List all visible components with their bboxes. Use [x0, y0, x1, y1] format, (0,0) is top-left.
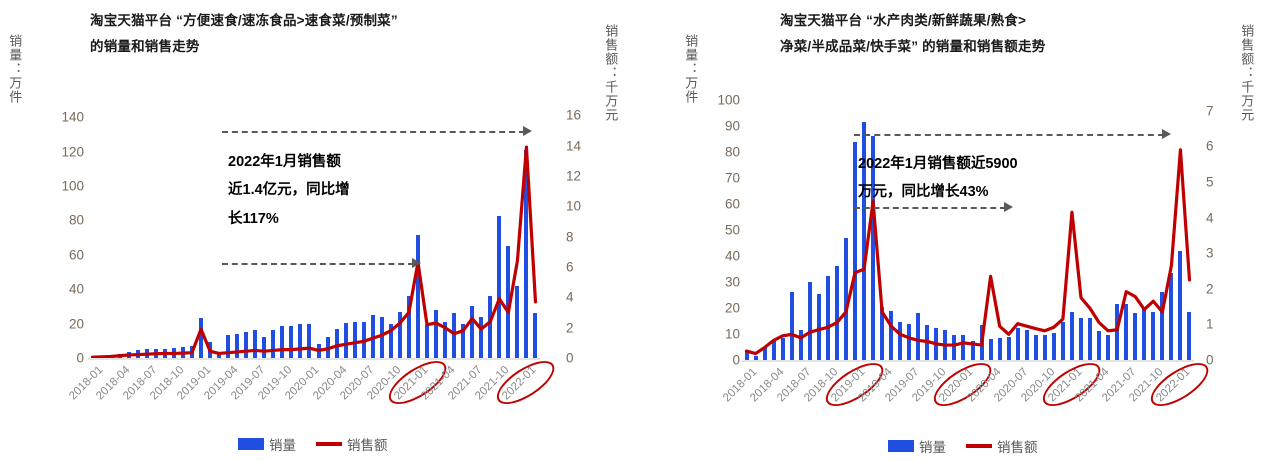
chart-title-left-line-1: 淘宝天猫平台 “方便速食/速冻食品>速食菜/预制菜”: [90, 8, 398, 34]
y-tick-right-0: 0: [1206, 353, 1214, 368]
y-tick-right-2: 2: [566, 320, 574, 335]
dual-chart-page: 淘宝天猫平台 “方便速食/速冻食品>速食菜/预制菜” 的销量和销售走势 销量：万…: [0, 0, 1277, 461]
y-tick-right-0: 0: [566, 351, 574, 366]
y-tick-left-20: 20: [69, 316, 84, 331]
annotation-right-line-2: 万元，同比增长43%: [858, 178, 1018, 206]
legend-left: 销量 销售额: [238, 434, 400, 454]
y-tick-right-7: 7: [1206, 103, 1214, 118]
annotation-right-line-1: 2022年1月销售额近5900: [858, 150, 1018, 178]
legend-item-sales-amount-right[interactable]: 销售额: [966, 436, 1038, 456]
y-tick-right-1: 1: [1206, 317, 1214, 332]
y-axis-right-ticks: 0246810121416: [566, 100, 606, 360]
y-tick-right-4: 4: [566, 290, 574, 305]
y-tick-left-60: 60: [69, 247, 84, 262]
annotation-left-line-3: 长117%: [228, 205, 350, 233]
line-series-sales-amount-right: [742, 100, 1194, 362]
chart-title-right: 淘宝天猫平台 “水产肉类/新鲜蔬果/熟食> 净菜/半成品菜/快手菜” 的销量和销…: [780, 8, 1045, 61]
y-tick-left-100: 100: [717, 93, 740, 108]
legend-right: 销量 销售额: [888, 436, 1050, 456]
y-tick-left-70: 70: [725, 171, 740, 186]
y-tick-left-50: 50: [725, 223, 740, 238]
legend-bar-swatch-icon: [238, 438, 264, 450]
y-tick-left-10: 10: [725, 327, 740, 342]
annotation-left-line-2: 近1.4亿元，同比增: [228, 176, 350, 204]
y-axis-right-ticks-right-panel: 01234567: [1206, 100, 1240, 362]
y-axis-left-ticks-right-panel: 0102030405060708090100: [706, 100, 740, 362]
legend-label-sales-volume: 销量: [269, 434, 296, 454]
y-tick-left-80: 80: [69, 213, 84, 228]
y-axis-left-ticks: 020406080100120140: [44, 100, 84, 360]
annotation-arrow-lower-head-right: [1004, 202, 1013, 212]
y-tick-left-40: 40: [69, 282, 84, 297]
y-tick-right-8: 8: [566, 229, 574, 244]
y-tick-left-80: 80: [725, 145, 740, 160]
y-tick-right-16: 16: [566, 108, 581, 123]
legend-item-sales-volume-right[interactable]: 销量: [888, 436, 946, 456]
y-tick-right-12: 12: [566, 168, 581, 183]
chart-title-left-line-2: 的销量和销售走势: [90, 34, 398, 60]
legend-item-sales-amount[interactable]: 销售额: [316, 434, 388, 454]
y-axis-left-caption-right-panel: 销量：万件: [684, 34, 697, 104]
chart-panel-right: 淘宝天猫平台 “水产肉类/新鲜蔬果/熟食> 净菜/半成品菜/快手菜” 的销量和销…: [640, 0, 1277, 461]
x-axis-baseline: [88, 358, 540, 360]
legend-label-sales-amount-right: 销售额: [997, 436, 1038, 456]
annotation-left: 2022年1月销售额 近1.4亿元，同比增 长117%: [228, 148, 350, 233]
annotation-arrow-upper-line-right: [854, 134, 1164, 136]
y-tick-left-60: 60: [725, 197, 740, 212]
y-tick-left-30: 30: [725, 275, 740, 290]
y-tick-left-120: 120: [61, 144, 84, 159]
legend-bar-swatch-icon-right: [888, 440, 914, 452]
y-tick-right-10: 10: [566, 199, 581, 214]
y-tick-left-0: 0: [732, 353, 740, 368]
legend-label-sales-amount: 销售额: [347, 434, 388, 454]
y-tick-right-2: 2: [1206, 281, 1214, 296]
chart-panel-left: 淘宝天猫平台 “方便速食/速冻食品>速食菜/预制菜” 的销量和销售走势 销量：万…: [0, 0, 640, 461]
chart-title-right-line-2: 净菜/半成品菜/快手菜” 的销量和销售额走势: [780, 34, 1045, 60]
y-axis-left-caption: 销量：万件: [8, 34, 21, 104]
chart-title-right-line-1: 淘宝天猫平台 “水产肉类/新鲜蔬果/熟食>: [780, 8, 1045, 34]
y-tick-left-100: 100: [61, 179, 84, 194]
annotation-arrow-upper-head-right: [1162, 129, 1171, 139]
legend-item-sales-volume[interactable]: 销量: [238, 434, 296, 454]
annotation-arrow-upper-head: [523, 126, 532, 136]
y-tick-left-90: 90: [725, 119, 740, 134]
y-axis-right-caption-right-panel: 销售额：千万元: [1240, 24, 1253, 122]
annotation-arrow-lower-line: [222, 263, 414, 265]
legend-label-sales-volume-right: 销量: [919, 436, 946, 456]
legend-line-swatch-icon-right: [966, 444, 992, 448]
y-tick-left-20: 20: [725, 301, 740, 316]
annotation-arrow-upper-line: [222, 131, 525, 133]
annotation-right: 2022年1月销售额近5900 万元，同比增长43%: [858, 150, 1018, 207]
annotation-left-line-1: 2022年1月销售额: [228, 148, 350, 176]
chart-title-left: 淘宝天猫平台 “方便速食/速冻食品>速食菜/预制菜” 的销量和销售走势: [90, 8, 398, 61]
y-tick-right-6: 6: [566, 259, 574, 274]
legend-line-swatch-icon: [316, 442, 342, 446]
annotation-arrow-lower-line-right: [854, 207, 1006, 209]
y-tick-left-40: 40: [725, 249, 740, 264]
y-tick-right-3: 3: [1206, 246, 1214, 261]
y-tick-right-4: 4: [1206, 210, 1214, 225]
y-tick-right-6: 6: [1206, 139, 1214, 154]
y-tick-right-14: 14: [566, 138, 581, 153]
x-axis-baseline-right: [742, 360, 1194, 362]
y-tick-left-0: 0: [76, 351, 84, 366]
annotation-arrow-lower-head: [412, 258, 421, 268]
y-tick-right-5: 5: [1206, 174, 1214, 189]
plot-area-right: [742, 100, 1194, 362]
y-tick-left-140: 140: [61, 110, 84, 125]
